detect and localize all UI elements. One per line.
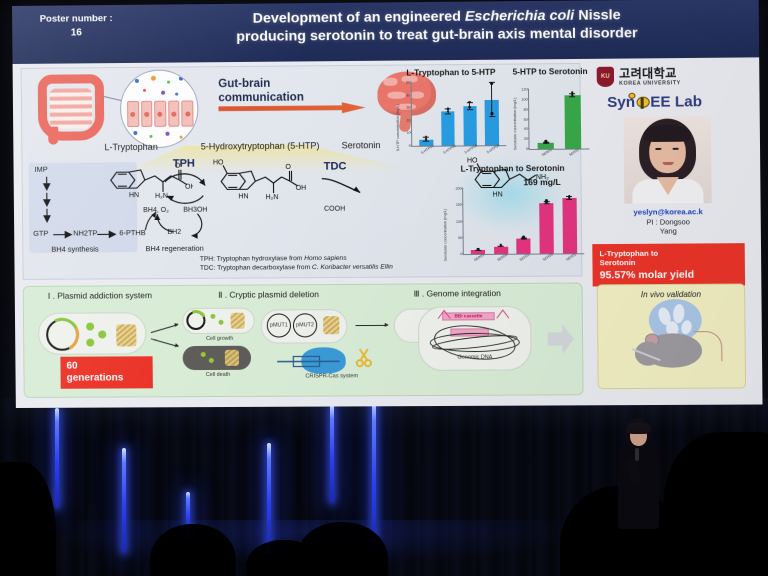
ribbon-icon: [116, 324, 136, 346]
pi-line-1: PI : Dongsoo: [646, 217, 690, 226]
gut-brain-label-line1: Gut-brain: [218, 78, 270, 90]
projection-screen: Poster number : 16 Development of an eng…: [12, 0, 763, 408]
bee-small-icon: [628, 93, 635, 99]
lab-name-suffix: EE Lab: [650, 93, 702, 111]
pmut1-label: pMUT1: [265, 322, 293, 328]
byproduct-cooh-label: COOH: [324, 205, 345, 215]
compound-label-5htp: 5-Hydroxytryptophan (5-HTP): [201, 141, 320, 152]
university-name-en: KOREA UNIVERSITY: [619, 80, 681, 87]
bar-group: SER01: [532, 89, 559, 149]
bar-group: 5-HTP04: [481, 82, 504, 146]
poster-number-label: Poster number :: [40, 13, 113, 25]
stage-led-light: [55, 408, 59, 508]
gut-brain-label: Gut-brain communication: [218, 76, 304, 106]
svg-text:O: O: [285, 164, 291, 171]
data-point: [500, 243, 503, 246]
bh-regeneration-cycle: [151, 210, 208, 246]
legend-tdc-species: C. Koribacter versatilis Ellin: [312, 264, 393, 272]
page-title: Development of an engineered Escherichia…: [124, 5, 751, 47]
crispr-label: CRISPR-Cas system: [283, 373, 380, 380]
scissors-icon: [356, 347, 370, 365]
dead-cell: [183, 346, 252, 370]
title-part-b: Nissle: [574, 7, 621, 24]
bh4-synthesis-label: BH4 synthesis: [51, 244, 98, 254]
imp-to-gtp-arrows: [41, 175, 54, 227]
pthb-to-bh4-arrow: [143, 210, 159, 232]
cell-death-label: Cell death: [185, 372, 251, 378]
chart-serotonin-from-5htp-title: 5-HTP to Serotonin: [510, 67, 591, 78]
svg-text:HN: HN: [238, 193, 248, 200]
intestine-icon: [38, 74, 105, 141]
yield-highlight-line2: Serotonin: [600, 258, 738, 268]
researcher-photo: [624, 116, 712, 203]
bar-group: SER00: [535, 188, 559, 254]
bar-group: SER01: [558, 188, 582, 254]
chart-serotonin-from-5htp-bar: [538, 143, 555, 149]
workflow-to-invivo-arrow: [547, 324, 574, 354]
protein-dot: [209, 358, 214, 363]
chart-5htp-bars: 5-HTP015-HTP025-HTP035-HTP04: [412, 82, 507, 146]
data-point: [447, 110, 450, 113]
chart-peak-annotation: 169 mg/L: [519, 178, 566, 188]
data-point: [490, 82, 493, 85]
tdc-arrow: [320, 174, 367, 200]
structure-5htp: HO HN H₂N O OH: [211, 155, 310, 208]
chart-trp-to-serotonin-bar: [517, 239, 531, 254]
data-point: [545, 200, 548, 203]
data-point: [425, 138, 428, 141]
title-part-a: Development of an engineered: [253, 9, 465, 27]
chart-5htp-bar: [463, 106, 477, 145]
data-point: [568, 194, 571, 197]
poster-number-value: 16: [28, 26, 124, 41]
data-point: [522, 236, 525, 239]
audience-silhouette: [664, 432, 768, 576]
bar-group: SER02: [559, 89, 586, 149]
chart-5htp-bar: [485, 100, 499, 146]
bar-group: SER03: [466, 189, 489, 255]
compound-label-serotonin: Serotonin: [342, 140, 381, 150]
deletion-arrow: [355, 325, 387, 326]
chart-trp-to-serotonin-ylabel: Serotonin concentration (mg/L): [443, 209, 448, 261]
data-point: [447, 108, 450, 111]
title-species: Escherichia coli: [465, 8, 575, 25]
bar-group: 5-HTP03: [459, 82, 482, 146]
legend-tph-text: TPH: Tryptophan hydroxylase from: [200, 255, 304, 263]
chart-5htp-ylabel: 5-HTP concentration (mg/L): [396, 104, 400, 151]
chart-serotonin-from-5htp-ylabel: Serotonin concentration (mg/L): [513, 98, 518, 150]
poster-slide: Poster number : 16 Development of an eng…: [12, 0, 763, 408]
workflow-step-1-title: Ⅰ . Plasmid addiction system: [48, 290, 152, 301]
invivo-validation-panel: In vivo validation: [597, 284, 746, 390]
svg-text:OH: OH: [296, 185, 307, 192]
pmut2-label: pMUT2: [291, 322, 319, 328]
ribbon-icon: [323, 316, 339, 334]
ribbon-icon: [230, 313, 244, 329]
principal-investigator: PI : Dongsoo Yang: [588, 217, 749, 237]
generations-badge: 60 generations: [60, 356, 153, 389]
korea-university-crest-icon: KU: [597, 67, 614, 87]
bar-group: SER02: [512, 188, 536, 254]
lab-info-column: KU 고려대학교 KOREA UNIVERSITY Syn EE Lab: [586, 59, 750, 401]
svg-text:HN: HN: [129, 192, 139, 199]
pi-line-2: Yang: [660, 227, 677, 236]
epithelial-cells: [127, 100, 193, 127]
invivo-title: In vivo validation: [598, 290, 744, 300]
protein-dot: [210, 314, 215, 319]
data-point: [477, 247, 480, 250]
legend-tdc: TDC: Tryptophan decarboxylase from C. Ko…: [200, 264, 393, 274]
svg-text:HO: HO: [213, 159, 224, 166]
bar-group: 5-HTP01: [415, 82, 438, 145]
contact-email[interactable]: yeslyn@korea.ac.k: [588, 207, 749, 217]
chart-trp-to-serotonin-plot: 050100150200SER03SER04SER02SER00SER01: [462, 188, 584, 255]
generations-label: generations: [67, 372, 124, 383]
guide-rna-icon: [277, 353, 342, 369]
svg-text:H₂N: H₂N: [266, 194, 279, 201]
mouse-illustration: [626, 317, 724, 376]
bh4-synthesis-arrows: [53, 229, 129, 242]
university-name-ko: 고려대학교: [619, 67, 681, 80]
yield-highlight-box: L-Tryptophan to Serotonin 95.57% molar y…: [592, 243, 745, 286]
cell-growth-label: Cell growth: [187, 336, 253, 342]
data-point: [468, 101, 471, 104]
compound-label-tryptophan: L-Tryptophan: [104, 142, 157, 152]
chart-trp-to-serotonin-bar: [562, 198, 577, 253]
chart-serotonin-from-5htp-bar: [564, 95, 581, 149]
presenter: [612, 418, 664, 528]
workflow-step-3-title: Ⅲ . Genome integration: [414, 288, 501, 299]
data-point: [491, 112, 494, 115]
bar-group: 5-HTP02: [437, 82, 460, 146]
microphone: [635, 448, 639, 461]
plasmid-icon: [46, 319, 78, 351]
plasmid-icon-small: [186, 311, 205, 330]
chart-trp-to-serotonin-bars: SER03SER04SER02SER00SER01: [463, 188, 584, 254]
chart-5htp: L-Tryptophan to 5-HTP 5-HTP concentratio…: [392, 68, 510, 165]
yield-highlight-value: 95.57% molar yield: [600, 269, 738, 281]
imp-label: IMP: [35, 165, 48, 175]
workflow-step-2-title: Ⅱ . Cryptic plasmid deletion: [218, 289, 319, 300]
chart-5htp-plot: 010203040505-HTP015-HTP025-HTP035-HTP04: [411, 82, 507, 147]
chart-trp-to-serotonin: L-Tryptophan to Serotonin Serotonin conc…: [440, 164, 587, 276]
protein-dot: [218, 320, 223, 325]
chart-serotonin-from-5htp-plot: 020406080100120SER01SER02: [528, 89, 589, 150]
slide-title-bar: Poster number : 16 Development of an eng…: [12, 0, 759, 64]
poster-number-block: Poster number : 16: [28, 12, 124, 41]
data-point: [468, 106, 471, 109]
chart-serotonin-from-5htp: 5-HTP to Serotonin Serotonin concentrati…: [510, 67, 592, 164]
protein-dot: [86, 323, 94, 331]
generations-number: 60: [66, 361, 77, 372]
university-logo: KU 고려대학교 KOREA UNIVERSITY: [597, 66, 681, 87]
enzyme-tdc-label: TDC: [324, 160, 347, 172]
data-point: [545, 140, 548, 143]
protein-dot: [86, 339, 94, 347]
chart-5htp-bar: [441, 111, 455, 145]
chart-trp-to-serotonin-title: L-Tryptophan to Serotonin: [440, 164, 586, 175]
data-point: [425, 136, 428, 139]
screenshot-root: Poster number : 16 Development of an eng…: [0, 0, 768, 576]
enzyme-tph-label: TPH: [173, 158, 195, 170]
engineering-workflow-panel: Ⅰ . Plasmid addiction system Ⅱ . Cryptic…: [23, 282, 584, 397]
legend-tph-species: Homo sapiens: [304, 255, 347, 262]
data-point: [571, 92, 574, 95]
bee-icon: [636, 97, 649, 108]
branch-arrow-down: [151, 338, 178, 347]
lab-logo: Syn EE Lab: [607, 93, 702, 111]
integration-arrows: [434, 308, 513, 323]
chart-5htp-title: L-Tryptophan to 5-HTP: [392, 68, 509, 79]
bar-group: SER04: [489, 188, 512, 254]
presenter-bangs: [626, 422, 651, 434]
protein-dot: [201, 352, 206, 357]
genomic-dna-label: Genomic DNA: [438, 354, 511, 360]
protein-dot: [98, 330, 106, 338]
branch-arrow-up: [151, 324, 178, 333]
gtp-label: GTP: [33, 229, 48, 239]
title-line-2: producing serotonin to treat gut-brain a…: [236, 25, 637, 45]
chart-trp-to-serotonin-bar: [539, 203, 554, 254]
ribbon-icon: [225, 350, 239, 366]
slide-body: Gut-brain communication: [13, 57, 763, 408]
chart-serotonin-from-5htp-bars: SER01SER02: [529, 89, 589, 149]
stage-led-light: [330, 405, 334, 503]
gut-brain-label-line2: communication: [218, 92, 304, 105]
legend-tdc-text: TDC: Tryptophan decarboxylase from: [200, 264, 312, 272]
epithelium-magnifier: [120, 69, 199, 148]
